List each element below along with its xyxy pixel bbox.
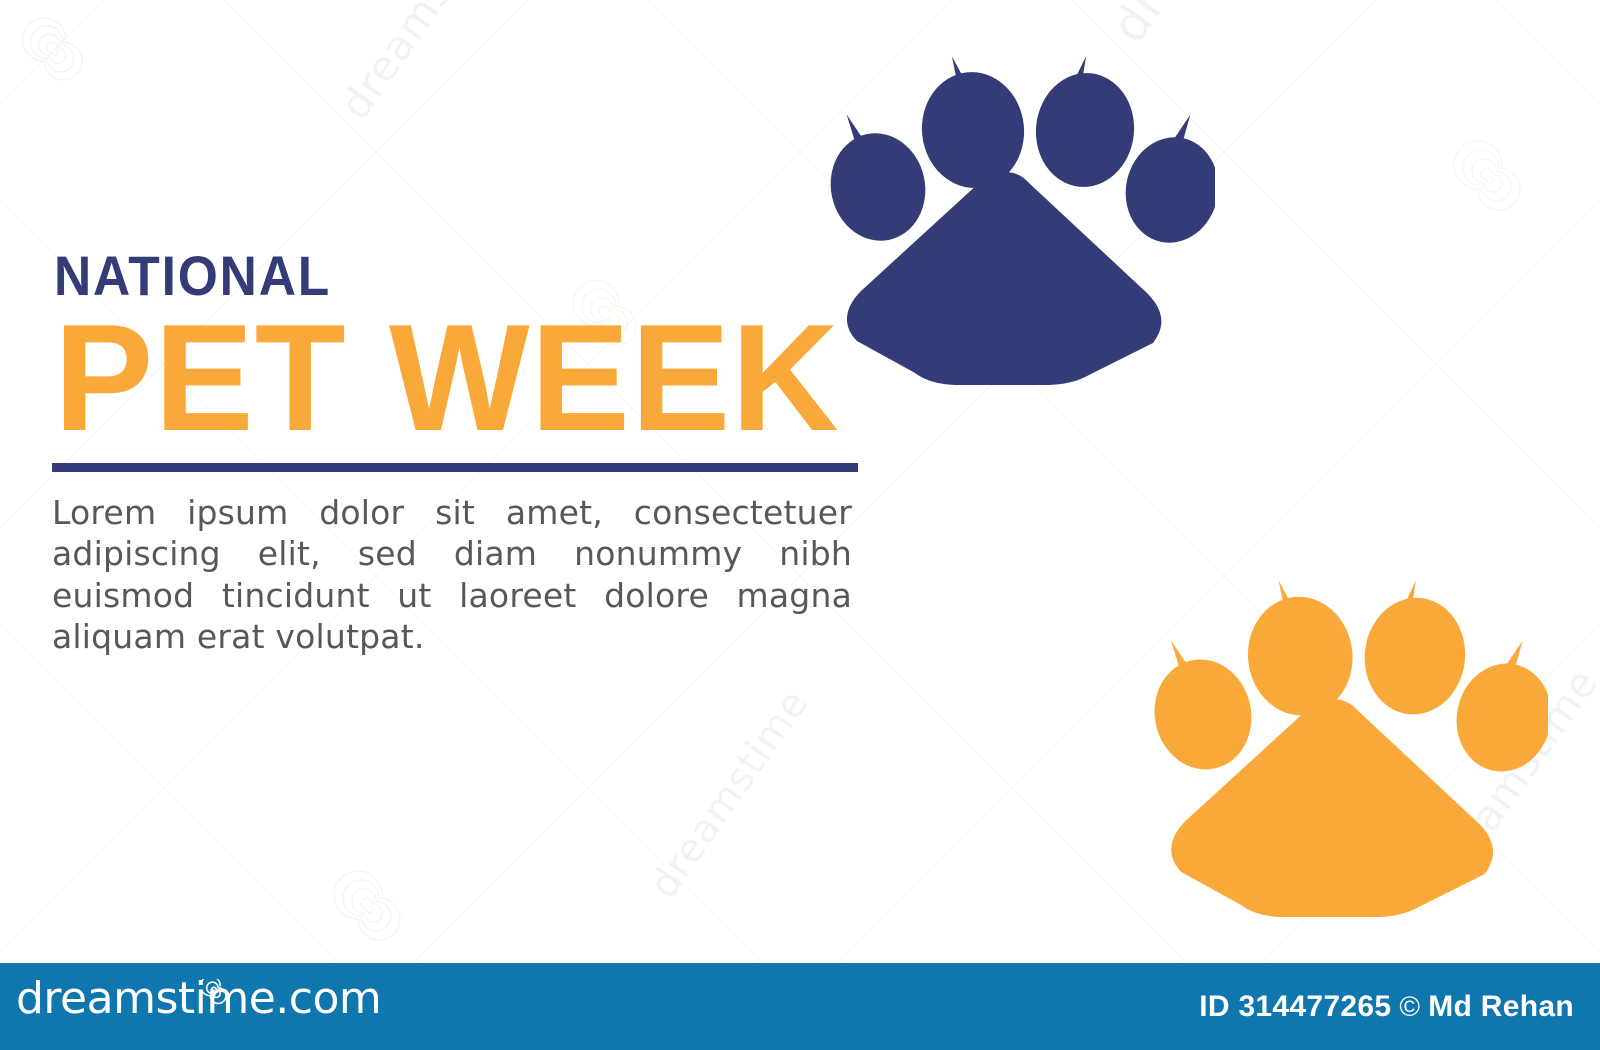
poster-canvas: dreamstime dreamstime dreamstime dreamst… — [0, 0, 1600, 1050]
image-id-label: ID 314477265 — [1199, 990, 1391, 1024]
watermark-spiral-icon — [320, 860, 420, 960]
footer-bar: dreamstime.com ID 314477265 © Md Rehan — [0, 963, 1600, 1050]
dreamstime-logo[interactable]: dreamstime.com — [16, 977, 381, 1021]
poster-text-block: NATIONAL PET WEEK Lorem ipsum dolor sit … — [52, 248, 872, 691]
watermark-spiral-icon — [1440, 130, 1540, 230]
footer-credit: ID 314477265 © Md Rehan — [1199, 963, 1574, 1050]
watermark-wordmark: dreamstime — [640, 681, 817, 907]
page-title: PET WEEK — [54, 316, 856, 441]
author-name: Md Rehan — [1428, 990, 1574, 1024]
copyright-icon: © — [1399, 991, 1420, 1023]
title-divider — [52, 463, 858, 472]
watermark-spiral-icon — [10, 8, 100, 98]
spiral-icon — [202, 979, 228, 1005]
paw-print-orange — [1118, 558, 1548, 918]
body-paragraph: Lorem ipsum dolor sit amet, consectetuer… — [52, 492, 852, 658]
dreamstime-logo-text: dreamstime.com — [16, 977, 381, 1021]
watermark-wordmark: dreamstime — [330, 0, 518, 128]
